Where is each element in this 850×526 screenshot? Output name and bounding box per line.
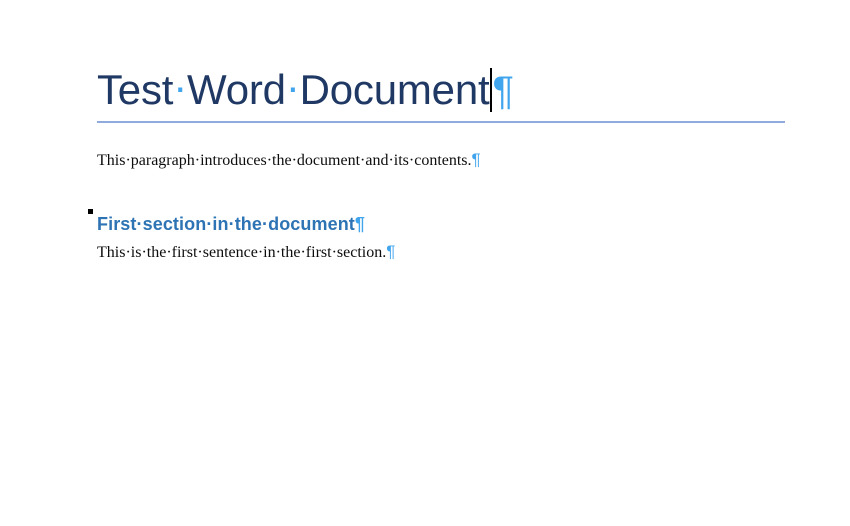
paragraph-first-section[interactable]: This·is·the·first·sentence·in·the·first·… <box>97 242 395 263</box>
pilcrow-icon: ¶ <box>386 242 395 261</box>
document-canvas[interactable]: Test·Word·Document¶ This·paragraph·intro… <box>0 0 850 526</box>
title-word-2: Word <box>187 66 286 113</box>
pilcrow-icon: ¶ <box>472 150 481 169</box>
keep-with-next-marker-icon <box>88 209 93 214</box>
space-dot-icon: · <box>173 61 187 113</box>
paragraph-first-section-text: This·is·the·first·sentence·in·the·first·… <box>97 244 386 261</box>
heading-1[interactable]: First·section·in·the·document¶ <box>97 214 365 234</box>
space-dot-icon: · <box>286 61 300 113</box>
pilcrow-icon: ¶ <box>492 69 513 113</box>
paragraph-intro[interactable]: This·paragraph·introduces·the·document·a… <box>97 150 481 171</box>
title-underline-rule <box>97 121 785 123</box>
heading-1-row[interactable]: First·section·in·the·document¶ <box>97 212 365 236</box>
heading-1-text: First·section·in·the·document <box>97 214 355 234</box>
title-block[interactable]: Test·Word·Document¶ <box>97 64 785 117</box>
title-word-1: Test <box>97 66 173 113</box>
paragraph-intro-text: This·paragraph·introduces·the·document·a… <box>97 152 472 169</box>
title-word-3: Document <box>300 66 490 113</box>
document-title[interactable]: Test·Word·Document¶ <box>97 64 785 117</box>
pilcrow-icon: ¶ <box>355 214 365 234</box>
